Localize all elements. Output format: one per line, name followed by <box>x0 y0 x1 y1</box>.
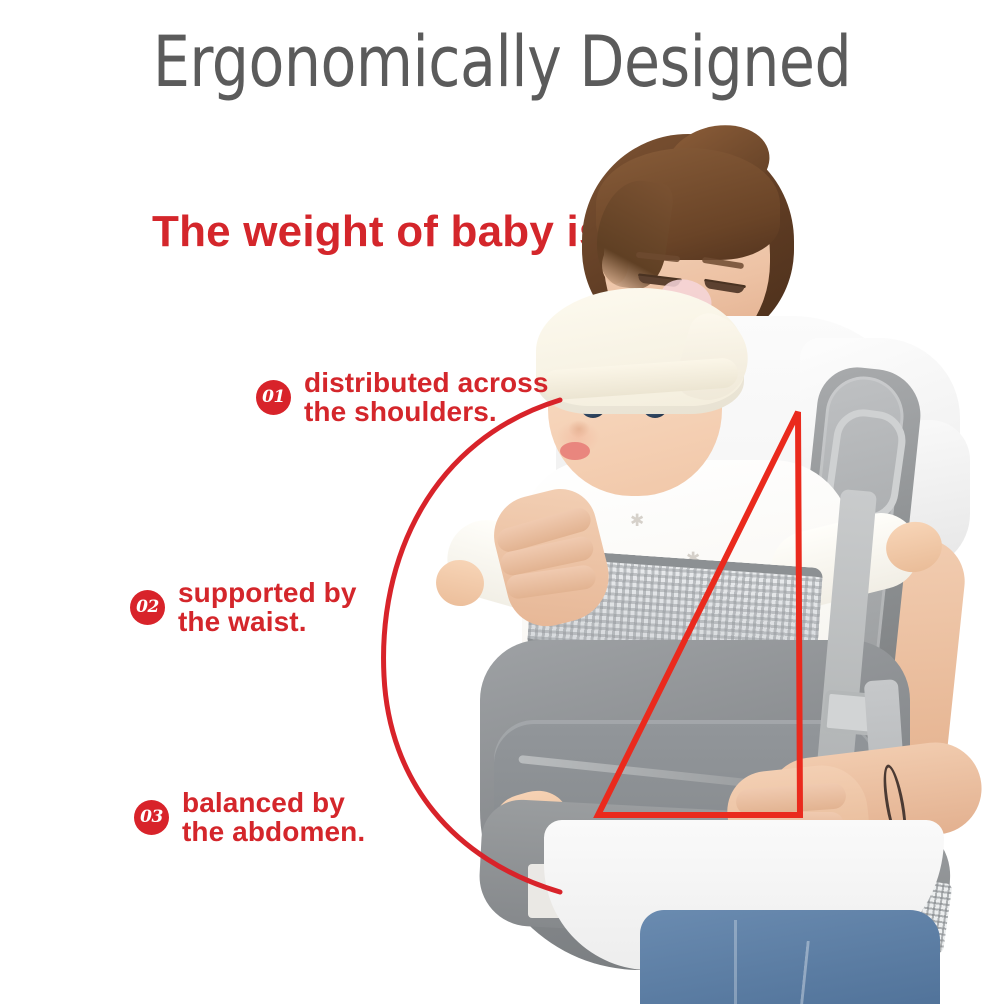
callout-badge-03: 03 <box>134 800 169 835</box>
callout-text-02: supported by the waist. <box>178 578 357 636</box>
callout-badge-01: 01 <box>256 380 291 415</box>
jeans-seam <box>734 920 737 1004</box>
page-title: Ergonomically Designed <box>35 22 969 102</box>
callout-02: 02 supported by the waist. <box>130 578 357 636</box>
product-photo: ✱ ✱ ✱ ✱ ✱ ✱ ✱ ✱ ✱ <box>330 120 1004 1004</box>
jeans-pocket <box>794 941 913 1004</box>
baby-nose <box>568 420 590 438</box>
callout-03: 03 balanced by the abdomen. <box>134 788 365 846</box>
product-infographic: Ergonomically Designed The weight of bab… <box>0 0 1004 1004</box>
baby-mouth <box>560 442 590 460</box>
callout-text-03: balanced by the abdomen. <box>182 788 365 846</box>
callout-text-01: distributed across the shoulders. <box>304 368 549 426</box>
callout-01: 01 distributed across the shoulders. <box>256 368 549 426</box>
callout-badge-02: 02 <box>130 590 165 625</box>
